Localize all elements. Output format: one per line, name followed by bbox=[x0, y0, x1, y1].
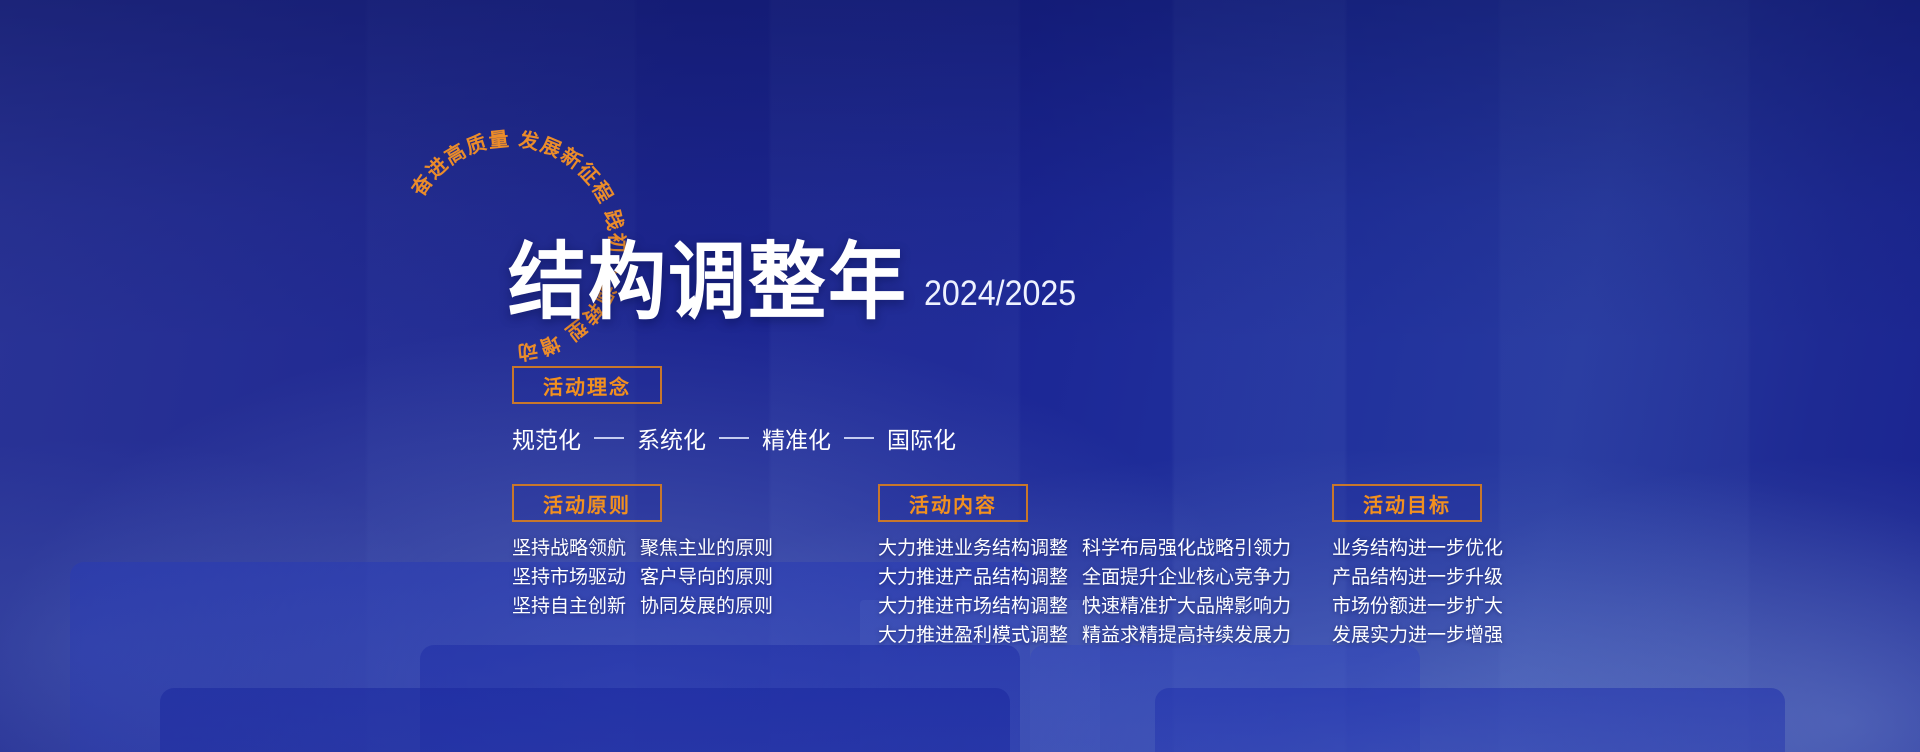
concept-item: 规范化 bbox=[512, 421, 581, 455]
goal-list: 业务结构进一步优化 产品结构进一步升级 市场份额进一步扩大 发展实力进一步增强 bbox=[1332, 534, 1503, 650]
content-left: 大力推进盈利模式调整 bbox=[878, 621, 1068, 649]
principle-right: 客户导向的原则 bbox=[640, 563, 773, 591]
content-right: 全面提升企业核心竞争力 bbox=[1082, 563, 1291, 591]
decorative-card-shape bbox=[160, 688, 1010, 752]
principle-right: 聚焦主业的原则 bbox=[640, 534, 773, 562]
list-item: 大力推进盈利模式调整 精益求精提高持续发展力 bbox=[878, 621, 1291, 649]
concept-item: 系统化 bbox=[637, 421, 706, 455]
content-list: 大力推进业务结构调整 科学布局强化战略引领力 大力推进产品结构调整 全面提升企业… bbox=[878, 534, 1291, 650]
concept-item: 国际化 bbox=[887, 421, 956, 455]
separator-dash bbox=[844, 437, 874, 439]
badge-principle[interactable]: 活动原则 bbox=[512, 484, 662, 522]
list-item: 坚持自主创新 协同发展的原则 bbox=[512, 592, 773, 620]
badge-content[interactable]: 活动内容 bbox=[878, 484, 1028, 522]
content-left: 大力推进业务结构调整 bbox=[878, 534, 1068, 562]
list-item: 坚持市场驱动 客户导向的原则 bbox=[512, 563, 773, 591]
list-item: 发展实力进一步增强 bbox=[1332, 621, 1503, 649]
concept-items-row: 规范化 系统化 精准化 国际化 bbox=[512, 421, 956, 455]
list-item: 大力推进产品结构调整 全面提升企业核心竞争力 bbox=[878, 563, 1291, 591]
content-left: 大力推进产品结构调整 bbox=[878, 563, 1068, 591]
decorative-card-shape bbox=[1030, 645, 1420, 752]
headline-group: 结构调整年 2024/2025 bbox=[508, 248, 1089, 324]
principle-left: 坚持自主创新 bbox=[512, 592, 626, 620]
principle-left: 坚持市场驱动 bbox=[512, 563, 626, 591]
separator-dash bbox=[719, 437, 749, 439]
list-item: 大力推进业务结构调整 科学布局强化战略引领力 bbox=[878, 534, 1291, 562]
content-right: 科学布局强化战略引领力 bbox=[1082, 534, 1291, 562]
principle-left: 坚持战略领航 bbox=[512, 534, 626, 562]
content-left: 大力推进市场结构调整 bbox=[878, 592, 1068, 620]
principle-right: 协同发展的原则 bbox=[640, 592, 773, 620]
separator-dash bbox=[594, 437, 624, 439]
badge-concept[interactable]: 活动理念 bbox=[512, 366, 662, 404]
principle-list: 坚持战略领航 聚焦主业的原则 坚持市场驱动 客户导向的原则 坚持自主创新 协同发… bbox=[512, 534, 773, 621]
decorative-card-shape bbox=[1155, 688, 1785, 752]
badge-goal[interactable]: 活动目标 bbox=[1332, 484, 1482, 522]
content-right: 快速精准扩大品牌影响力 bbox=[1082, 592, 1291, 620]
headline-title: 结构调整年 bbox=[508, 242, 908, 325]
banner-root: 奋进高质量 发展新征程 践初心 调转型 增动能 结构调整年 2024/2025 … bbox=[0, 0, 1920, 752]
list-item: 业务结构进一步优化 bbox=[1332, 534, 1503, 562]
list-item: 产品结构进一步升级 bbox=[1332, 563, 1503, 591]
goal-text: 业务结构进一步优化 bbox=[1332, 534, 1503, 562]
concept-item: 精准化 bbox=[762, 421, 831, 455]
headline-years: 2024/2025 bbox=[924, 274, 1076, 324]
decorative-card-shape bbox=[420, 645, 1020, 752]
goal-text: 产品结构进一步升级 bbox=[1332, 563, 1503, 591]
list-item: 市场份额进一步扩大 bbox=[1332, 592, 1503, 620]
goal-text: 发展实力进一步增强 bbox=[1332, 621, 1503, 649]
goal-text: 市场份额进一步扩大 bbox=[1332, 592, 1503, 620]
content-right: 精益求精提高持续发展力 bbox=[1082, 621, 1291, 649]
list-item: 坚持战略领航 聚焦主业的原则 bbox=[512, 534, 773, 562]
list-item: 大力推进市场结构调整 快速精准扩大品牌影响力 bbox=[878, 592, 1291, 620]
